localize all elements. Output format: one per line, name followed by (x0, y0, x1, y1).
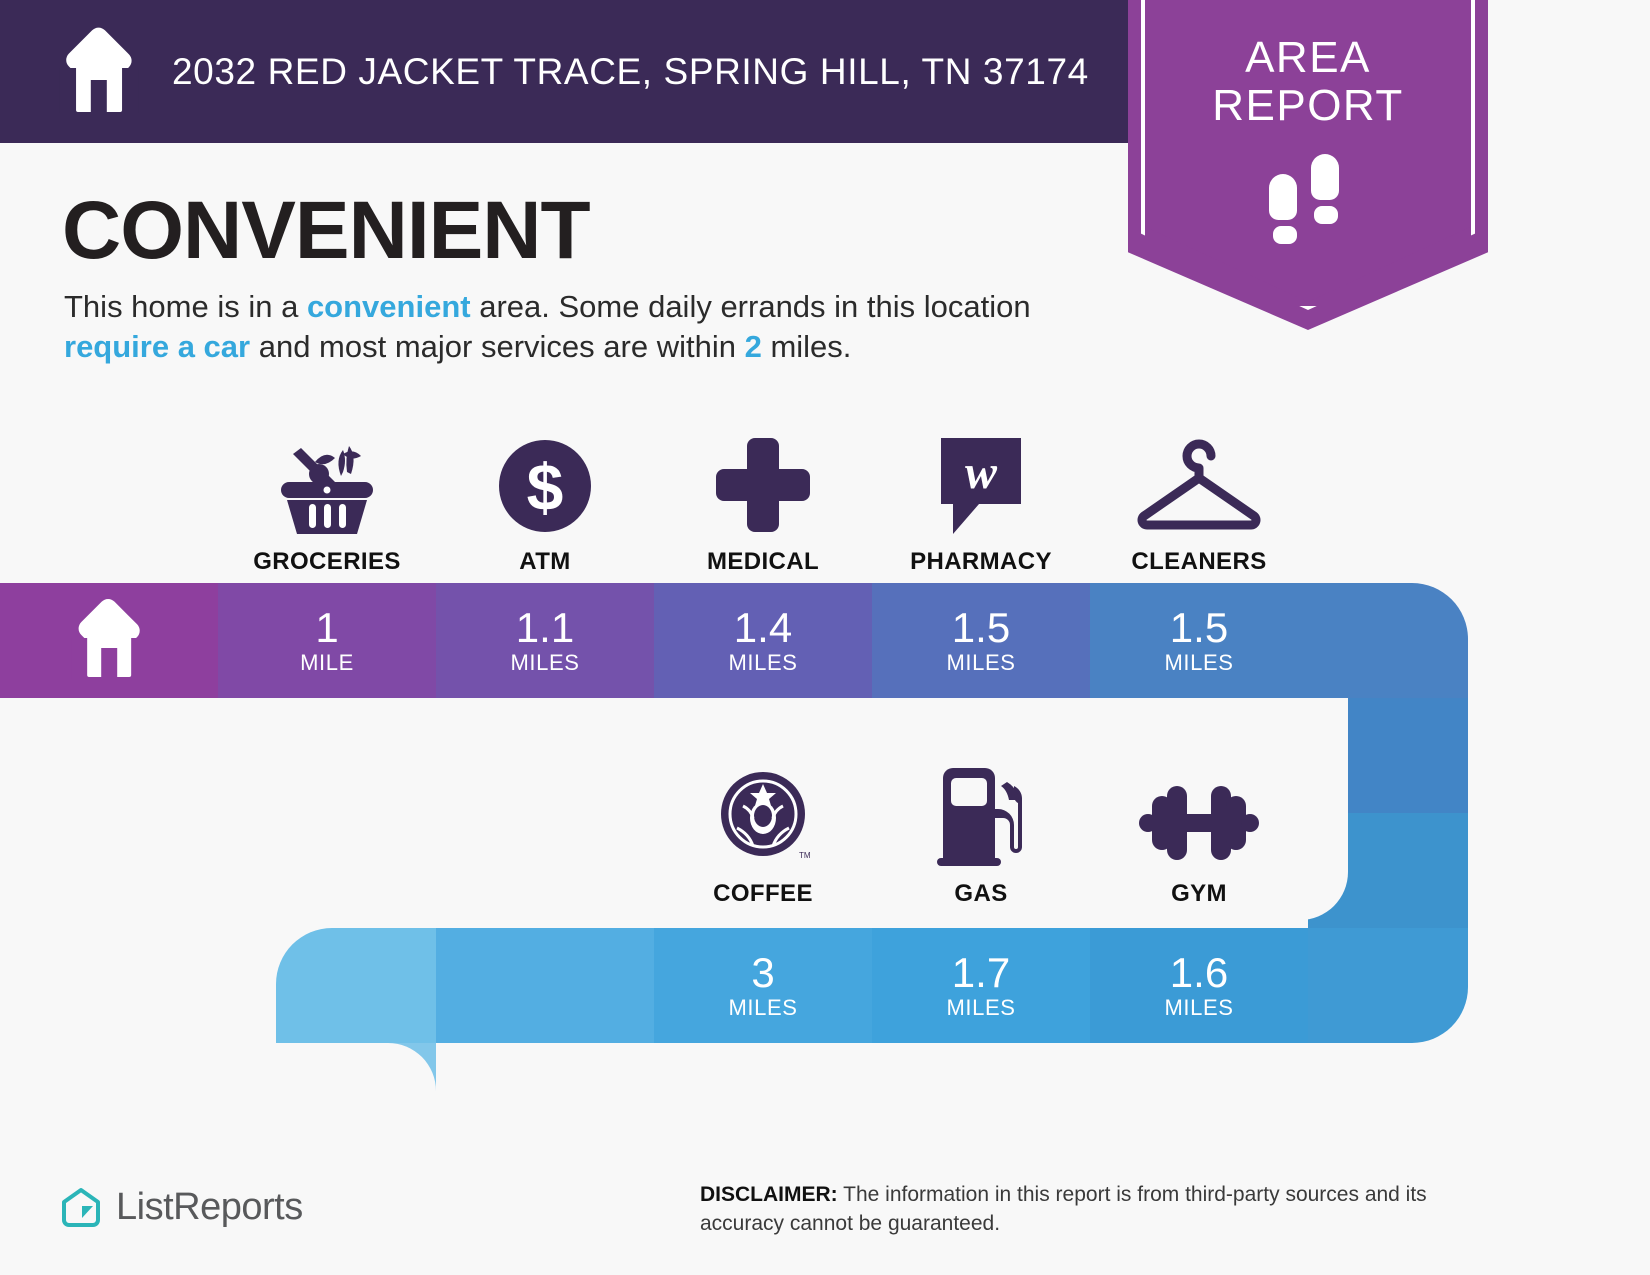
desc-text-3: and most major services are within (250, 329, 744, 364)
gym-dumbbell-icon (1090, 756, 1308, 866)
gas-pump-icon (872, 756, 1090, 866)
distance-value: 1.1 (516, 606, 574, 650)
property-address: 2032 RED JACKET TRACE, SPRING HILL, TN 3… (172, 51, 1089, 93)
distance-value: 1.4 (734, 606, 792, 650)
distance-unit: MILES (510, 650, 579, 676)
category-atm: $ ATM (436, 424, 654, 576)
category-gym: GYM (1090, 756, 1308, 908)
desc-text-4: miles. (762, 329, 852, 364)
disclaimer: DISCLAIMER: The information in this repo… (700, 1180, 1500, 1238)
cleaners-hanger-icon (1090, 424, 1308, 534)
category-label: ATM (436, 548, 654, 576)
distance-value: 3 (751, 951, 774, 995)
distance-value: 1.7 (952, 951, 1010, 995)
category-groceries: GROCERIES (218, 424, 436, 576)
atm-dollar-icon: $ (436, 424, 654, 534)
category-medical: MEDICAL (654, 424, 872, 576)
bar-segment-empty (436, 928, 654, 1043)
page-description: This home is in a convenient area. Some … (64, 287, 1074, 367)
distance-bar-row-1: 1 MILE 1.1 MILES 1.4 MILES 1.5 MILES 1.5… (0, 583, 1308, 698)
svg-text:w: w (965, 446, 998, 499)
groceries-basket-icon (218, 424, 436, 534)
category-label: GAS (872, 880, 1090, 908)
pharmacy-walgreens-icon: w (872, 424, 1090, 534)
badge-line-2: REPORT (1212, 82, 1404, 130)
desc-highlight-1: convenient (307, 289, 471, 324)
distance-unit: MILES (1164, 650, 1233, 676)
footprints-icon (1263, 152, 1353, 244)
svg-text:TM: TM (799, 851, 811, 860)
distance-value: 1 (315, 606, 338, 650)
header-bar: 2032 RED JACKET TRACE, SPRING HILL, TN 3… (0, 0, 1180, 143)
desc-highlight-2: require a car (64, 329, 250, 364)
area-report-page: 2032 RED JACKET TRACE, SPRING HILL, TN 3… (0, 0, 1650, 1275)
svg-text:$: $ (527, 450, 564, 524)
coffee-starbucks-icon: TM (654, 756, 872, 866)
desc-highlight-3: 2 (745, 329, 762, 364)
house-icon (58, 32, 140, 112)
bar-corner-bottom-right (1308, 928, 1468, 1043)
desc-text-1: This home is in a (64, 289, 307, 324)
bar-home-marker (0, 583, 218, 698)
distance-unit: MILE (300, 650, 354, 676)
category-cleaners: CLEANERS (1090, 424, 1308, 576)
category-label: COFFEE (654, 880, 872, 908)
bar-notch-bottom (0, 1043, 436, 1275)
distance-value: 1.6 (1170, 951, 1228, 995)
category-pharmacy: w PHARMACY (872, 424, 1090, 576)
category-label: CLEANERS (1090, 548, 1308, 576)
badge-line-1: AREA (1212, 34, 1404, 82)
page-title: CONVENIENT (62, 184, 590, 278)
disclaimer-label: DISCLAIMER: (700, 1183, 838, 1206)
category-label: GYM (1090, 880, 1308, 908)
bar-corner-top-right (1308, 583, 1468, 698)
desc-text-2: area. Some daily errands in this locatio… (471, 289, 1031, 324)
category-gas: GAS (872, 756, 1090, 908)
bar-segment-groceries: 1 MILE (218, 583, 436, 698)
distance-unit: MILES (1164, 995, 1233, 1021)
bar-segment-medical: 1.4 MILES (654, 583, 872, 698)
bar-corner-bottom-left (276, 928, 436, 1043)
distance-value: 1.5 (952, 606, 1010, 650)
category-label: GROCERIES (218, 548, 436, 576)
bar-segment-gym: 1.6 MILES (1090, 928, 1308, 1043)
bar-segment-coffee: 3 MILES (654, 928, 872, 1043)
listreports-logo-icon (60, 1187, 102, 1229)
listreports-logo: ListReports (60, 1186, 303, 1229)
distance-unit: MILES (946, 995, 1015, 1021)
category-coffee: TM COFFEE (654, 756, 872, 908)
bar-segment-atm: 1.1 MILES (436, 583, 654, 698)
bar-segment-cleaners: 1.5 MILES (1090, 583, 1308, 698)
distance-value: 1.5 (1170, 606, 1228, 650)
listreports-wordmark: ListReports (116, 1186, 303, 1229)
category-label: MEDICAL (654, 548, 872, 576)
bar-segment-gas: 1.7 MILES (872, 928, 1090, 1043)
badge-title: AREA REPORT (1212, 34, 1404, 130)
distance-bar-row-2: 3 MILES 1.7 MILES 1.6 MILES (436, 928, 1308, 1043)
bar-segment-pharmacy: 1.5 MILES (872, 583, 1090, 698)
area-report-badge: AREA REPORT (1128, 0, 1488, 330)
distance-unit: MILES (728, 650, 797, 676)
category-label: PHARMACY (872, 548, 1090, 576)
distance-unit: MILES (946, 650, 1015, 676)
distance-unit: MILES (728, 995, 797, 1021)
medical-cross-icon (654, 424, 872, 534)
